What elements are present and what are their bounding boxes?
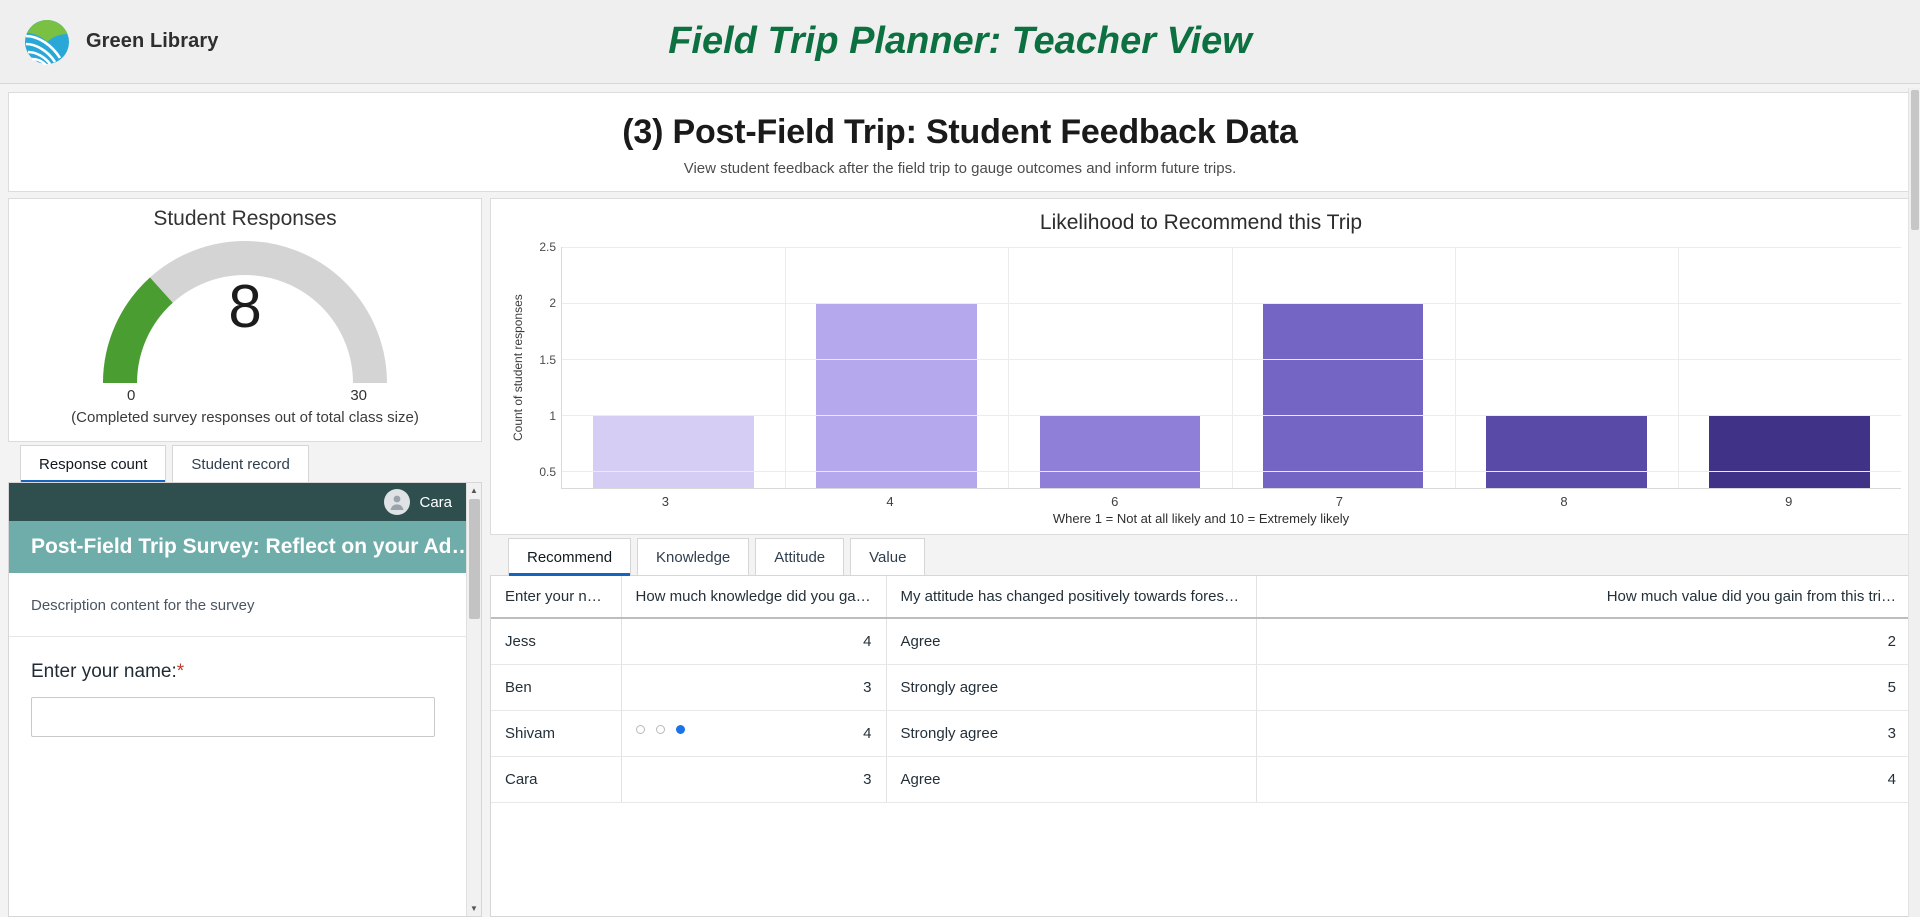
survey-panel: Cara Post-Field Trip Survey: Reflect on … xyxy=(8,482,482,917)
chart-bar[interactable] xyxy=(816,303,977,488)
globe-logo-icon xyxy=(24,19,70,65)
cell-attitude: Strongly agree xyxy=(886,664,1256,710)
triangle-down-icon[interactable]: ▼ xyxy=(467,901,481,916)
x-tick-label: 9 xyxy=(1676,489,1901,511)
cell-value: 3 xyxy=(1256,710,1911,756)
tab-student-record[interactable]: Student record xyxy=(172,445,308,482)
grid-line-vertical xyxy=(1455,247,1456,488)
bar-slot xyxy=(1678,247,1901,488)
cell-attitude: Strongly agree xyxy=(886,710,1256,756)
content-columns: Student Responses 8 0 30 (Completed surv… xyxy=(8,198,1912,917)
radio-unselected-icon[interactable] xyxy=(636,725,645,734)
grid-line-vertical xyxy=(785,247,786,488)
chart-bar[interactable] xyxy=(1040,415,1201,488)
y-tick-label: 0.5 xyxy=(539,465,556,479)
name-input[interactable] xyxy=(31,697,435,737)
bar-slot xyxy=(1232,247,1455,488)
chart-title: Likelihood to Recommend this Trip xyxy=(501,211,1901,235)
table-column-header[interactable]: How much knowledge did you gain? xyxy=(621,576,886,618)
student-responses-gauge-card: Student Responses 8 0 30 (Completed surv… xyxy=(8,198,482,442)
triangle-up-icon[interactable]: ▲ xyxy=(467,483,481,498)
tab-response-count[interactable]: Response count xyxy=(20,445,166,482)
recommend-chart-card: Likelihood to Recommend this Trip Count … xyxy=(490,198,1912,535)
left-tabbar: Response countStudent record xyxy=(8,442,482,482)
table-row[interactable]: Jess4Agree2 xyxy=(491,618,1911,664)
survey-user-name: Cara xyxy=(419,494,452,511)
cell-name: Jess xyxy=(491,618,621,664)
x-tick-label: 8 xyxy=(1452,489,1677,511)
table-body: Jess4Agree2Ben3Strongly agree5Shivam4Str… xyxy=(491,618,1911,802)
survey-question: Enter your name:* xyxy=(9,637,466,737)
survey-scrollbar[interactable]: ▲ ▼ xyxy=(466,483,481,916)
survey-topbar: Cara xyxy=(9,483,466,521)
x-tick-label: 3 xyxy=(553,489,778,511)
chart-plot xyxy=(561,247,1901,489)
table-row[interactable]: Ben3Strongly agree5 xyxy=(491,664,1911,710)
survey-content: Cara Post-Field Trip Survey: Reflect on … xyxy=(9,483,466,916)
right-column: Likelihood to Recommend this Trip Count … xyxy=(490,198,1912,917)
brand-name: Green Library xyxy=(86,30,218,53)
tab-label: Response count xyxy=(39,456,147,473)
grid-line-vertical xyxy=(1232,247,1233,488)
bar-slot xyxy=(1008,247,1231,488)
survey-heading: Post-Field Trip Survey: Reflect on your … xyxy=(9,521,466,573)
chart-y-ticks: 0.511.522.5 xyxy=(527,247,561,489)
gauge-widget: 8 0 30 xyxy=(95,235,395,385)
grid-line-vertical xyxy=(1008,247,1009,488)
chart-x-ticks: 346789 xyxy=(553,489,1901,511)
cell-name: Ben xyxy=(491,664,621,710)
table-column-header[interactable]: How much value did you gain from this tr… xyxy=(1256,576,1911,618)
cell-knowledge: 3 xyxy=(621,664,886,710)
page-scrollbar[interactable] xyxy=(1908,88,1920,917)
table-row[interactable]: Cara3Agree4 xyxy=(491,756,1911,802)
page-scrollbar-thumb[interactable] xyxy=(1911,90,1919,230)
tab-recommend[interactable]: Recommend xyxy=(508,538,631,575)
table-column-header[interactable]: My attitude has changed positively towar… xyxy=(886,576,1256,618)
grid-line-vertical xyxy=(1678,247,1679,488)
table-header-row: Enter your name:How much knowledge did y… xyxy=(491,576,1911,618)
feedback-table: Enter your name:How much knowledge did y… xyxy=(491,576,1911,803)
cell-value: 5 xyxy=(1256,664,1911,710)
x-tick-label: 6 xyxy=(1002,489,1227,511)
survey-question-label: Enter your name:* xyxy=(31,661,444,683)
cell-knowledge: 4 xyxy=(621,710,886,756)
cell-knowledge: 4 xyxy=(621,618,886,664)
survey-question-text: Enter your name: xyxy=(31,661,177,682)
radio-selected-icon[interactable] xyxy=(676,725,685,734)
page-header-card: (3) Post-Field Trip: Student Feedback Da… xyxy=(8,92,1912,192)
tab-label: Recommend xyxy=(527,549,612,566)
tab-label: Knowledge xyxy=(656,549,730,566)
brand: Green Library xyxy=(0,19,218,65)
gauge-caption: (Completed survey responses out of total… xyxy=(71,409,419,426)
y-tick-label: 1 xyxy=(549,409,556,423)
left-column: Student Responses 8 0 30 (Completed surv… xyxy=(8,198,482,917)
table-head: Enter your name:How much knowledge did y… xyxy=(491,576,1911,618)
bar-slot xyxy=(562,247,785,488)
tab-knowledge[interactable]: Knowledge xyxy=(637,538,749,575)
cell-knowledge: 3 xyxy=(621,756,886,802)
cell-name: Shivam xyxy=(491,710,621,756)
y-tick-label: 2 xyxy=(549,296,556,310)
page-stage: (3) Post-Field Trip: Student Feedback Da… xyxy=(0,84,1920,917)
app-title: Field Trip Planner: Teacher View xyxy=(0,20,1920,63)
scrollbar-thumb[interactable] xyxy=(469,499,480,619)
page-title: (3) Post-Field Trip: Student Feedback Da… xyxy=(19,113,1901,152)
y-tick-label: 2.5 xyxy=(539,240,556,254)
cell-attitude: Agree xyxy=(886,618,1256,664)
cell-value: 2 xyxy=(1256,618,1911,664)
chart-bar[interactable] xyxy=(593,415,754,488)
chart-y-axis-label: Count of student responses xyxy=(509,247,527,489)
tab-attitude[interactable]: Attitude xyxy=(755,538,844,575)
bar-slot xyxy=(1455,247,1678,488)
radio-group[interactable] xyxy=(636,725,685,734)
user-avatar-icon xyxy=(384,489,410,515)
table-column-header[interactable]: Enter your name: xyxy=(491,576,621,618)
cell-name: Cara xyxy=(491,756,621,802)
bar-slot xyxy=(785,247,1008,488)
x-tick-label: 4 xyxy=(778,489,1003,511)
app-banner: Green Library Field Trip Planner: Teache… xyxy=(0,0,1920,84)
gauge-min-label: 0 xyxy=(127,387,135,404)
right-tabbar: RecommendKnowledgeAttitudeValue xyxy=(490,535,1912,575)
survey-description: Description content for the survey xyxy=(9,573,466,637)
tab-label: Attitude xyxy=(774,549,825,566)
chart-bar[interactable] xyxy=(1486,415,1647,488)
gauge-value: 8 xyxy=(95,277,395,337)
tab-label: Student record xyxy=(191,456,289,473)
chart-x-axis-label: Where 1 = Not at all likely and 10 = Ext… xyxy=(501,511,1901,530)
gauge-max-label: 30 xyxy=(350,387,367,404)
page-subtitle: View student feedback after the field tr… xyxy=(19,160,1901,177)
chart-bar[interactable] xyxy=(1709,415,1870,488)
y-tick-label: 1.5 xyxy=(539,353,556,367)
chart-bar[interactable] xyxy=(1263,303,1424,488)
radio-unselected-icon[interactable] xyxy=(656,725,665,734)
x-tick-label: 7 xyxy=(1227,489,1452,511)
feedback-table-card: Enter your name:How much knowledge did y… xyxy=(490,575,1912,917)
cell-value: 4 xyxy=(1256,756,1911,802)
table-row[interactable]: Shivam4Strongly agree3 xyxy=(491,710,1911,756)
required-marker: * xyxy=(177,661,184,682)
tab-label: Value xyxy=(869,549,906,566)
chart-plot-area: Count of student responses 0.511.522.5 xyxy=(501,247,1901,489)
gauge-title: Student Responses xyxy=(153,207,336,231)
tab-value[interactable]: Value xyxy=(850,538,925,575)
cell-attitude: Agree xyxy=(886,756,1256,802)
